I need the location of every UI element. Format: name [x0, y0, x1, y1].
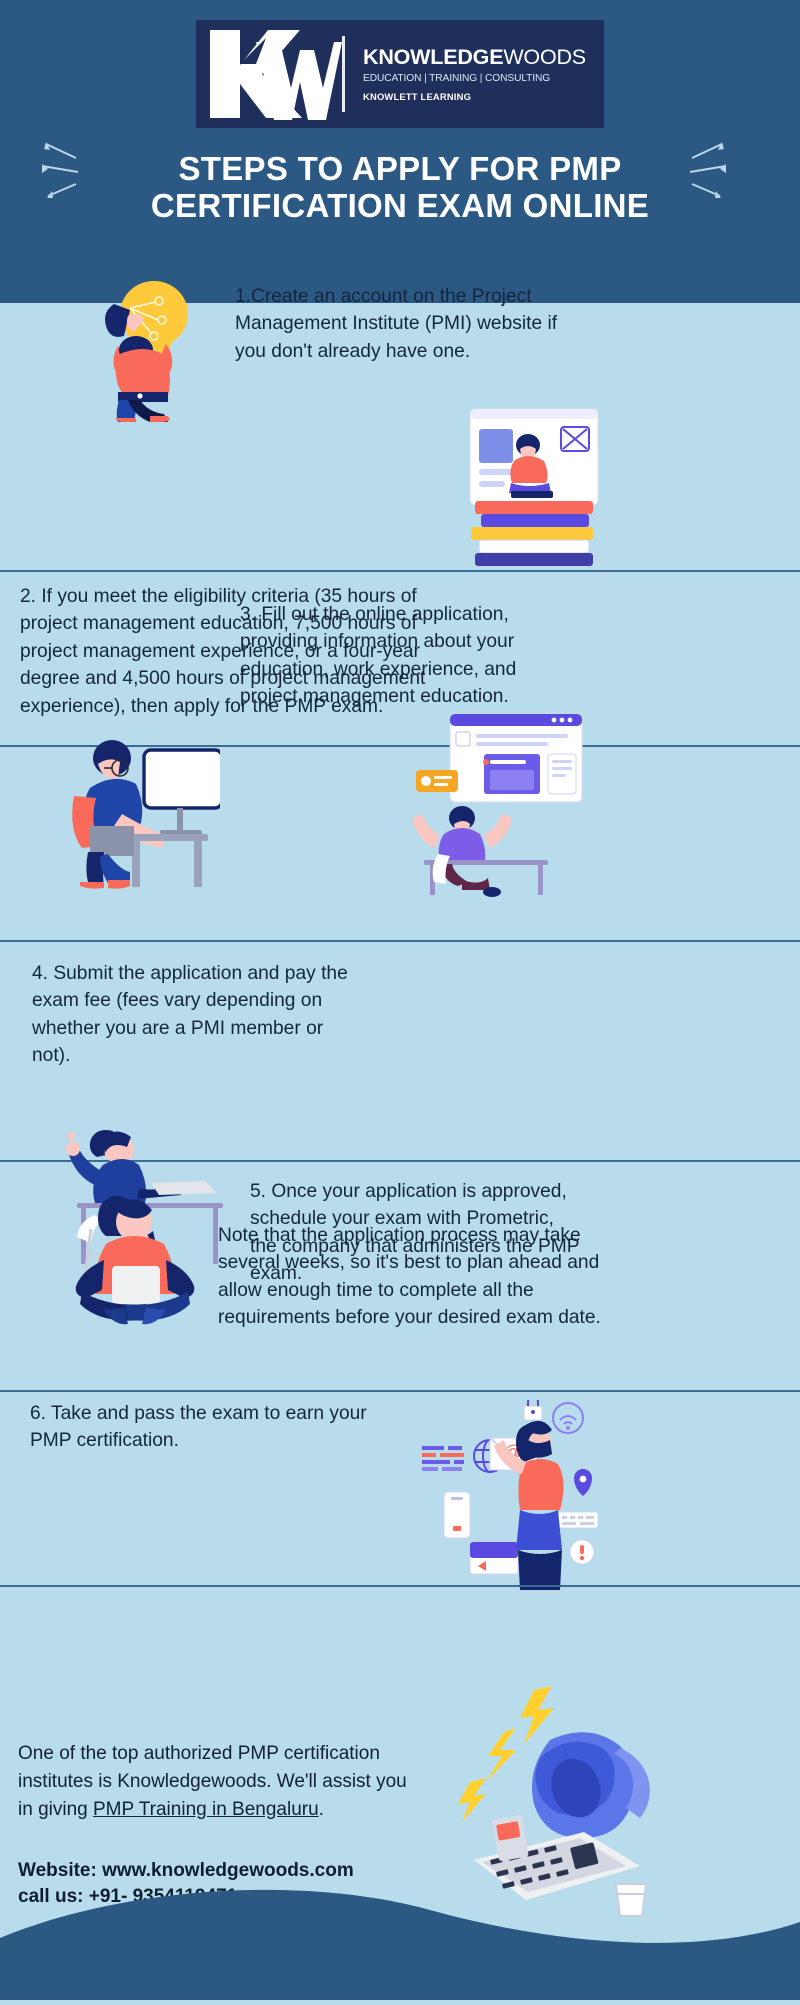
note-text: Note that the application process may ta…: [218, 1222, 603, 1332]
brand-logo: KNOWLEDGEWOODS EDUCATION | TRAINING | CO…: [196, 20, 604, 128]
step-4-text: 4. Submit the application and pay the ex…: [32, 960, 362, 1070]
person-holding-lightbulb-illustration: [78, 272, 198, 422]
header-banner: KNOWLEDGEWOODS EDUCATION | TRAINING | CO…: [0, 0, 800, 303]
divider-3: [0, 940, 800, 942]
logo-name-light: WOODS: [503, 45, 586, 69]
person-with-dashboard-illustration: [400, 712, 590, 897]
kw-monogram-icon: [196, 20, 342, 128]
cta-line-3-prefix: in giving: [18, 1799, 93, 1820]
person-on-book-stack-illustration: [465, 405, 600, 570]
divider-5: [0, 1390, 800, 1392]
step-6-text: 6. Take and pass the exam to earn your P…: [30, 1400, 400, 1455]
woman-with-digital-icons-illustration: @: [418, 1400, 608, 1590]
bottom-wave-decoration: [0, 1860, 800, 2000]
logo-tagline: EDUCATION | TRAINING | CONSULTING: [363, 74, 586, 85]
cta-line-2: institutes is Knowledgewoods. We'll assi…: [18, 1768, 448, 1796]
divider-6: [0, 1585, 800, 1587]
person-sitting-crosslegged-laptop-illustration: [62, 1188, 207, 1328]
cta-line-3-suffix: .: [319, 1799, 324, 1820]
person-at-desktop-computer-illustration: [62, 730, 220, 895]
infographic-page: KNOWLEDGEWOODS EDUCATION | TRAINING | CO…: [0, 0, 800, 2000]
step-3-text: 3. Fill out the online application, prov…: [240, 601, 560, 711]
title-line-2: CERTIFICATION EXAM ONLINE: [0, 187, 800, 224]
divider-1: [0, 570, 800, 572]
page-title: STEPS TO APPLY FOR PMP CERTIFICATION EXA…: [0, 150, 800, 225]
logo-name: KNOWLEDGEWOODS: [363, 46, 586, 69]
pmp-training-link[interactable]: PMP Training in Bengaluru: [93, 1799, 319, 1820]
logo-separator: [342, 36, 345, 112]
cta-line-3: in giving PMP Training in Bengaluru.: [18, 1796, 458, 1824]
logo-subline: KNOWLETT LEARNING: [363, 92, 586, 102]
step-1-text: 1.Create an account on the Project Manag…: [235, 283, 565, 365]
logo-wordmark: KNOWLEDGEWOODS EDUCATION | TRAINING | CO…: [363, 46, 586, 102]
logo-name-bold: KNOWLEDGE: [363, 45, 503, 69]
cta-line-1: One of the top authorized PMP certificat…: [18, 1740, 448, 1768]
title-line-1: STEPS TO APPLY FOR PMP: [0, 150, 800, 187]
